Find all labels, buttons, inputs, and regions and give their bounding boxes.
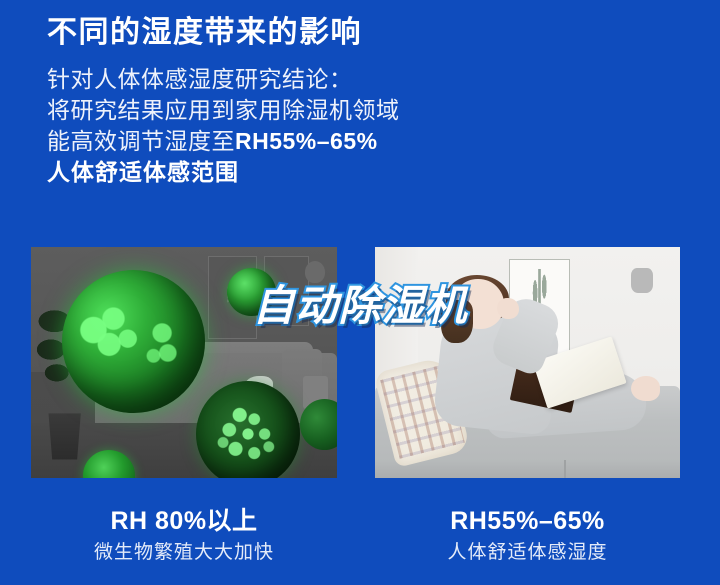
caption-sub-label: 微生物繁殖大大加快 bbox=[31, 539, 337, 566]
page-title: 不同的湿度带来的影响 bbox=[47, 13, 687, 53]
panel-row bbox=[0, 247, 720, 479]
panel-image-comfort-humidity bbox=[375, 247, 680, 478]
body-line-3-emphasis: RH55%–65% bbox=[235, 128, 378, 154]
header-text-block: 不同的湿度带来的影响 针对人体体感湿度研究结论： 将研究结果应用到家用除湿机领域… bbox=[47, 13, 687, 188]
hand bbox=[497, 298, 519, 319]
caption-main-label: RH 80%以上 bbox=[31, 505, 337, 537]
microbe-sphere-medium bbox=[227, 268, 276, 317]
foot bbox=[631, 376, 660, 401]
body-line-2: 将研究结果应用到家用除湿机领域 bbox=[47, 95, 687, 126]
plant-pot bbox=[46, 413, 83, 459]
caption-high-humidity: RH 80%以上 微生物繁殖大大加快 bbox=[31, 505, 337, 566]
dark-room-scene bbox=[31, 247, 337, 478]
caption-main-label: RH55%–65% bbox=[375, 505, 680, 537]
panel-image-high-humidity bbox=[31, 247, 337, 478]
caption-comfort-humidity: RH55%–65% 人体舒适体感湿度 bbox=[375, 505, 680, 566]
header-body: 针对人体体感湿度研究结论： 将研究结果应用到家用除湿机领域 能高效调节湿度至RH… bbox=[47, 64, 687, 188]
wall-speaker-icon bbox=[305, 261, 325, 283]
body-line-3: 能高效调节湿度至RH55%–65% bbox=[47, 126, 687, 157]
bright-room-scene bbox=[375, 247, 680, 478]
caption-row: RH 80%以上 微生物繁殖大大加快 RH55%–65% 人体舒适体感湿度 bbox=[0, 505, 720, 585]
microbe-sphere-bottom bbox=[196, 381, 300, 478]
body-line-1: 针对人体体感湿度研究结论： bbox=[47, 64, 687, 95]
microbe-sphere-large bbox=[62, 270, 206, 413]
woman-reading bbox=[412, 275, 656, 469]
body-line-3-plain: 能高效调节湿度至 bbox=[47, 128, 235, 154]
body-line-4: 人体舒适体感范围 bbox=[47, 157, 687, 188]
hair-side bbox=[441, 300, 473, 343]
caption-sub-label: 人体舒适体感湿度 bbox=[375, 539, 680, 566]
